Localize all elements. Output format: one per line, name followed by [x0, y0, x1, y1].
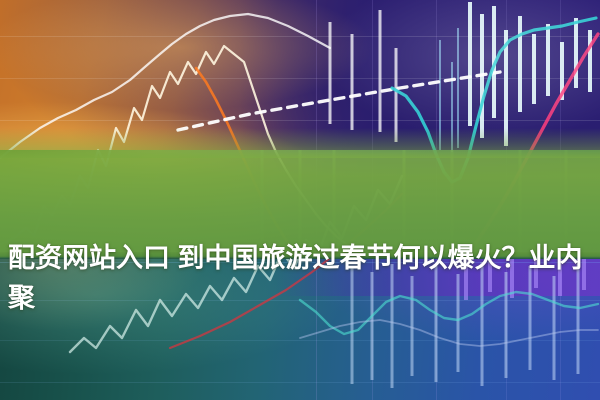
headline-text: 配资网站入口 到中国旅游过春节何以爆火？业内聚 焦如何打造国际旅游IP — [0, 158, 600, 400]
headline-line-1: 配资网站入口 到中国旅游过春节何以爆火？业内聚 — [6, 238, 594, 318]
banner-image: 配资网站入口 到中国旅游过春节何以爆火？业内聚 焦如何打造国际旅游IP — [0, 0, 600, 400]
